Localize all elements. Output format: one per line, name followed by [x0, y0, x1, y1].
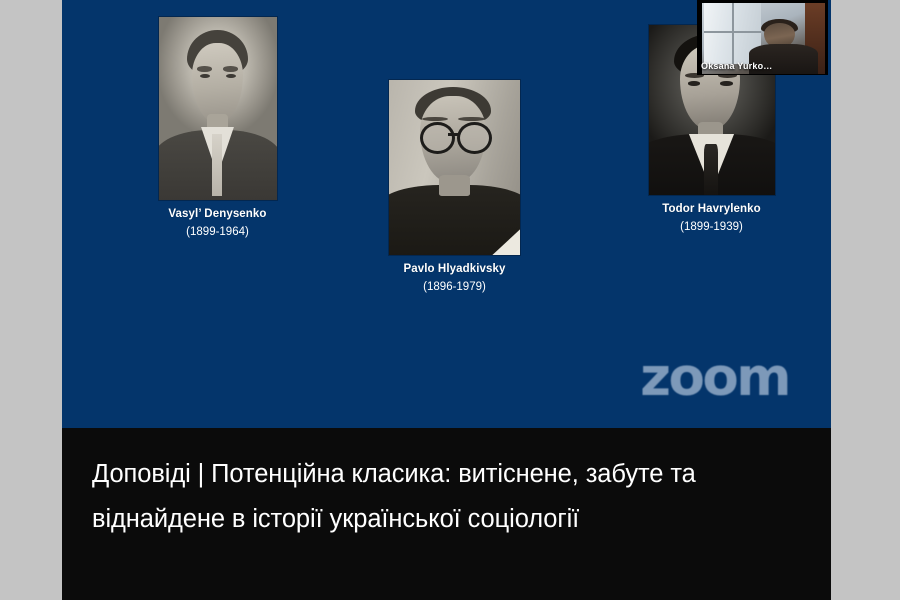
portrait-name: Todor Havrylenko [590, 204, 831, 216]
caption-bar: Доповіді | Потенційна класика: витіснене… [62, 428, 831, 600]
participant-video-thumbnail[interactable]: Oksana Yurko… [697, 0, 828, 75]
portrait-name: Pavlo Hlyadkivsky [333, 264, 576, 276]
shared-screen-stage: Vasyl’ Denysenko (1899-1964) [62, 0, 831, 600]
portrait-years: (1899-1939) [590, 222, 831, 234]
portrait-block-vasyl-denysenko: Vasyl’ Denysenko (1899-1964) [96, 17, 339, 238]
portrait-years: (1896-1979) [333, 282, 576, 294]
zoom-watermark: zoom [640, 347, 789, 408]
portrait-photo-pavlo-hlyadkivsky [389, 80, 520, 255]
portrait-years: (1899-1964) [96, 227, 339, 239]
portrait-block-pavlo-hlyadkivsky: Pavlo Hlyadkivsky (1896-1979) [333, 80, 576, 293]
participant-name-label: Oksana Yurko… [701, 61, 772, 71]
caption-text: Доповіді | Потенційна класика: витіснене… [92, 452, 792, 542]
screen-letterbox: Vasyl’ Denysenko (1899-1964) [0, 0, 900, 600]
portrait-photo-vasyl-denysenko [159, 17, 277, 200]
portrait-name: Vasyl’ Denysenko [96, 209, 339, 221]
